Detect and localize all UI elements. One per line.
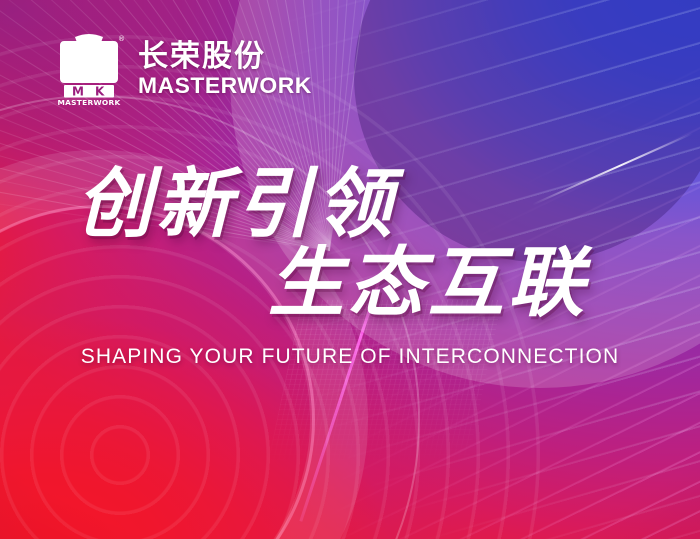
svg-text:®: ® xyxy=(118,35,125,43)
svg-text:M: M xyxy=(72,85,84,99)
svg-text:MASTERWORK: MASTERWORK xyxy=(57,98,120,107)
brand-wordmark: 长荣股份 MASTERWORK xyxy=(138,41,305,96)
promo-poster: M K MASTERWORK ® 长荣股份 MASTERWORK 创新引领 生态… xyxy=(0,0,700,539)
company-name-en: MASTERWORK xyxy=(138,75,312,97)
svg-text:K: K xyxy=(95,85,105,99)
masterwork-mk-emblem-icon: M K MASTERWORK ® xyxy=(52,31,126,107)
subtitle-english: SHAPING YOUR FUTURE OF INTERCONNECTION xyxy=(0,345,700,369)
brand-logo: M K MASTERWORK ® 长荣股份 MASTERWORK xyxy=(52,31,305,107)
company-name-cn: 长荣股份 xyxy=(138,41,305,72)
